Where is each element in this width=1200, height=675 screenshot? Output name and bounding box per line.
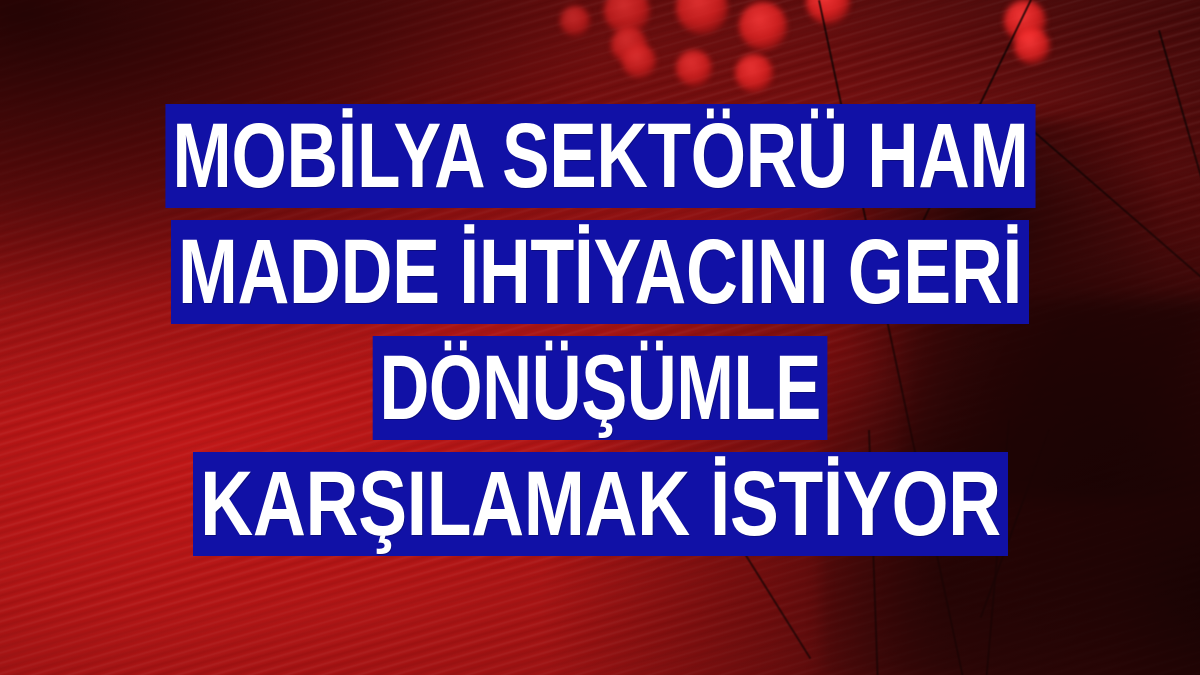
bokeh-circle	[560, 6, 590, 36]
headline-line-4: KARŞILAMAK İSTİYOR	[193, 452, 1008, 556]
bokeh-circle	[735, 54, 773, 92]
bokeh-circle	[1014, 28, 1050, 64]
bokeh-circle	[611, 27, 647, 63]
headline-line-2: MADDE İHTİYACINI GERİ	[171, 220, 1029, 324]
bokeh-circle	[676, 0, 728, 34]
headline-line-3: DÖNÜŞÜMLE	[372, 336, 827, 440]
headline-line-1: MOBİLYA SEKTÖRÜ HAM	[165, 104, 1035, 208]
bokeh-circle	[622, 44, 656, 78]
headline-block: MOBİLYA SEKTÖRÜ HAM MADDE İHTİYACINI GER…	[0, 104, 1200, 556]
bokeh-circle	[1004, 0, 1046, 42]
bokeh-circle	[676, 50, 712, 86]
bokeh-circle	[806, 0, 850, 24]
bokeh-circle	[604, 0, 650, 34]
bokeh-circle	[739, 2, 787, 50]
headline-card: MOBİLYA SEKTÖRÜ HAM MADDE İHTİYACINI GER…	[0, 0, 1200, 675]
